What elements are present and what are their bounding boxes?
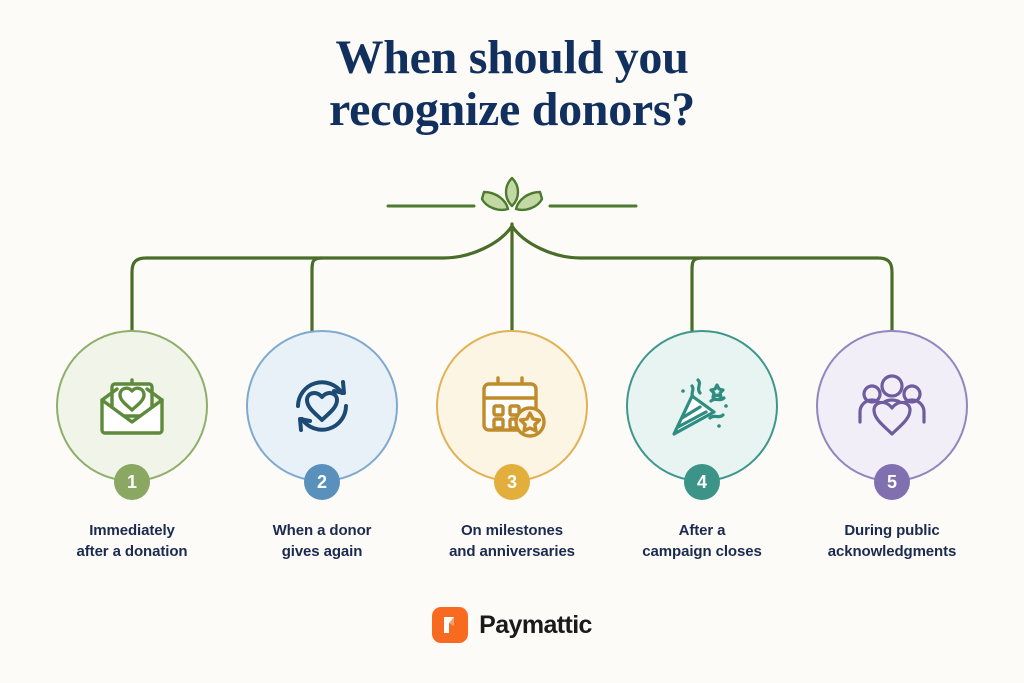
infographic-canvas: When should you recognize donors?: [0, 0, 1024, 683]
step-3-caption-line-1: On milestones: [422, 520, 602, 541]
calendar-star-icon: [466, 360, 558, 452]
step-5-caption-line-1: During public: [802, 520, 982, 541]
step-5-circle: [816, 330, 968, 482]
step-1-circle-wrap: 1: [56, 330, 208, 482]
step-2-circle: [246, 330, 398, 482]
step-2-circle-wrap: 2: [246, 330, 398, 482]
step-4-circle-wrap: 4: [626, 330, 778, 482]
step-4-caption-line-1: After a: [612, 520, 792, 541]
step-1-caption-line-2: after a donation: [42, 541, 222, 562]
party-popper-icon: [656, 360, 748, 452]
paymattic-logo-icon: [432, 607, 468, 643]
step-3-badge: 3: [494, 464, 530, 500]
step-3-caption: On milestones and anniversaries: [422, 520, 602, 562]
step-4-caption-line-2: campaign closes: [612, 541, 792, 562]
step-4-badge: 4: [684, 464, 720, 500]
step-5-caption-line-2: acknowledgments: [802, 541, 982, 562]
title-line-1: When should you: [0, 32, 1024, 84]
step-1-caption: Immediately after a donation: [42, 520, 222, 562]
step-1-circle: [56, 330, 208, 482]
page-title: When should you recognize donors?: [0, 32, 1024, 136]
step-3-circle-wrap: 3: [436, 330, 588, 482]
step-1-caption-line-1: Immediately: [42, 520, 222, 541]
step-3-caption-line-2: and anniversaries: [422, 541, 602, 562]
step-node-1[interactable]: 1 Immediately after a donation: [37, 330, 227, 562]
step-node-4[interactable]: 4 After a campaign closes: [607, 330, 797, 562]
step-2-caption-line-2: gives again: [232, 541, 412, 562]
step-node-3[interactable]: 3 On milestones and anniversaries: [417, 330, 607, 562]
step-2-caption-line-1: When a donor: [232, 520, 412, 541]
step-2-caption: When a donor gives again: [232, 520, 412, 562]
step-2-badge: 2: [304, 464, 340, 500]
recurring-heart-icon: [276, 360, 368, 452]
step-3-circle: [436, 330, 588, 482]
people-heart-icon: [846, 360, 938, 452]
steps-row: 1 Immediately after a donation: [0, 330, 1024, 562]
paymattic-mark-glyph: [439, 614, 461, 636]
step-1-badge: 1: [114, 464, 150, 500]
envelope-heart-icon: [86, 360, 178, 452]
step-node-5[interactable]: 5 During public acknowledgments: [797, 330, 987, 562]
step-5-circle-wrap: 5: [816, 330, 968, 482]
brand-name: Paymattic: [479, 611, 592, 640]
step-node-2[interactable]: 2 When a donor gives again: [227, 330, 417, 562]
step-5-caption: During public acknowledgments: [802, 520, 982, 562]
footer-brand: Paymattic: [0, 607, 1024, 643]
step-5-badge: 5: [874, 464, 910, 500]
step-4-circle: [626, 330, 778, 482]
step-4-caption: After a campaign closes: [612, 520, 792, 562]
title-line-2: recognize donors?: [0, 84, 1024, 136]
